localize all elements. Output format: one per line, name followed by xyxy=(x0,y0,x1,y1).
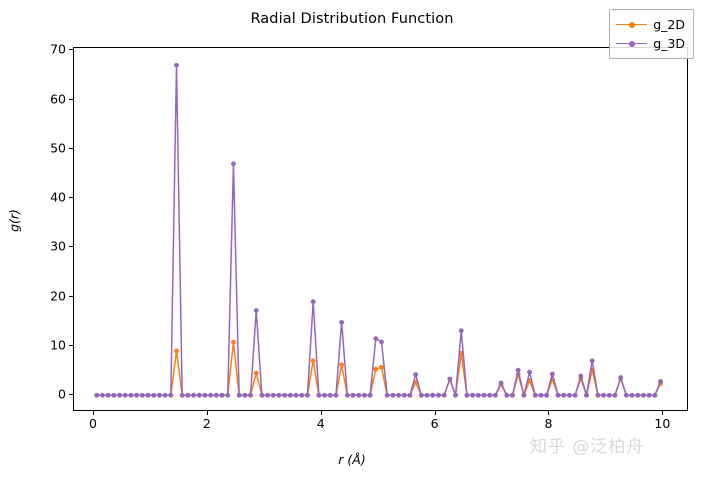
x-tick-mark xyxy=(321,411,322,415)
legend-item-g2d[interactable]: g_2D xyxy=(616,15,685,34)
data-point xyxy=(447,377,452,382)
data-point xyxy=(180,393,185,398)
data-point xyxy=(487,393,492,398)
data-point xyxy=(214,393,219,398)
data-point xyxy=(316,393,321,398)
legend-item-g3d[interactable]: g_3D xyxy=(616,34,685,53)
data-point xyxy=(504,393,509,398)
y-axis-label: g(r) xyxy=(7,191,22,251)
data-point xyxy=(294,393,299,398)
data-point xyxy=(607,393,612,398)
data-point xyxy=(322,393,327,398)
data-point xyxy=(311,299,316,304)
data-point xyxy=(185,393,190,398)
data-point xyxy=(419,393,424,398)
x-tick-mark xyxy=(93,411,94,415)
data-point xyxy=(493,393,498,398)
data-point xyxy=(345,393,350,398)
data-point xyxy=(408,393,413,398)
series-line xyxy=(97,65,661,395)
y-tick-label: 70 xyxy=(6,42,66,57)
data-point xyxy=(379,365,384,370)
data-point xyxy=(521,393,526,398)
data-point xyxy=(203,393,208,398)
data-point xyxy=(476,393,481,398)
data-point xyxy=(106,393,111,398)
data-point xyxy=(561,393,566,398)
data-point xyxy=(635,393,640,398)
data-point xyxy=(248,393,253,398)
data-point xyxy=(168,393,173,398)
data-point xyxy=(117,393,122,398)
data-point xyxy=(254,308,259,313)
data-point xyxy=(271,393,276,398)
data-point xyxy=(453,393,458,398)
data-point xyxy=(231,161,236,166)
data-point xyxy=(123,393,128,398)
data-point xyxy=(567,393,572,398)
data-point xyxy=(465,393,470,398)
x-tick-label: 8 xyxy=(518,416,578,431)
watermark: 知乎 @泛柏舟 xyxy=(530,432,644,457)
data-point xyxy=(413,372,418,377)
data-point xyxy=(328,393,333,398)
data-point xyxy=(482,393,487,398)
x-tick-mark xyxy=(662,411,663,415)
data-point xyxy=(339,362,344,367)
data-point xyxy=(430,393,435,398)
data-point xyxy=(539,393,544,398)
x-tick-mark xyxy=(207,411,208,415)
data-point xyxy=(601,393,606,398)
data-point xyxy=(658,379,663,384)
data-point xyxy=(254,371,259,376)
data-point xyxy=(100,393,105,398)
x-tick-label: 10 xyxy=(632,416,692,431)
data-point xyxy=(390,393,395,398)
x-tick-label: 2 xyxy=(177,416,237,431)
y-tick-label: 60 xyxy=(6,91,66,106)
legend-swatch-g3d xyxy=(616,38,647,50)
chart-legend: g_2D g_3D xyxy=(609,9,694,59)
x-tick-mark xyxy=(548,411,549,415)
data-point xyxy=(584,393,589,398)
data-point xyxy=(299,393,304,398)
data-point xyxy=(288,393,293,398)
y-tick-mark xyxy=(69,394,73,395)
x-tick-label: 0 xyxy=(63,416,123,431)
y-tick-mark xyxy=(69,197,73,198)
data-point xyxy=(647,393,652,398)
data-point xyxy=(260,393,265,398)
data-point xyxy=(146,393,151,398)
y-tick-mark xyxy=(69,246,73,247)
data-point xyxy=(470,393,475,398)
data-point xyxy=(379,340,384,345)
data-point xyxy=(533,393,538,398)
y-tick-mark xyxy=(69,345,73,346)
data-point xyxy=(231,340,236,345)
data-point xyxy=(334,393,339,398)
data-point xyxy=(595,393,600,398)
data-point xyxy=(351,393,356,398)
data-point xyxy=(624,393,629,398)
data-point xyxy=(550,372,555,377)
data-point xyxy=(436,393,441,398)
plot-area xyxy=(73,47,688,411)
legend-label-g2d: g_2D xyxy=(653,17,685,32)
data-point xyxy=(373,336,378,341)
data-point xyxy=(362,393,367,398)
data-point xyxy=(237,393,242,398)
data-point xyxy=(94,393,99,398)
data-point xyxy=(556,393,561,398)
y-tick-label: 20 xyxy=(6,288,66,303)
data-point xyxy=(129,393,134,398)
data-point xyxy=(208,393,213,398)
data-point xyxy=(618,375,623,380)
data-point xyxy=(613,393,618,398)
legend-marker-g2d xyxy=(629,22,635,28)
y-tick-mark xyxy=(69,99,73,100)
data-point xyxy=(368,393,373,398)
y-tick-label: 50 xyxy=(6,140,66,155)
data-point xyxy=(396,393,401,398)
data-point xyxy=(630,393,635,398)
data-point xyxy=(385,393,390,398)
y-tick-label: 10 xyxy=(6,337,66,352)
data-point xyxy=(544,393,549,398)
data-point xyxy=(590,358,595,363)
data-point xyxy=(174,63,179,68)
data-point xyxy=(265,393,270,398)
data-point xyxy=(425,393,430,398)
data-point xyxy=(157,393,162,398)
data-point xyxy=(516,368,521,373)
data-point xyxy=(311,358,316,363)
data-point xyxy=(373,367,378,372)
y-tick-mark xyxy=(69,49,73,50)
data-point xyxy=(191,393,196,398)
data-point xyxy=(140,393,145,398)
x-tick-label: 4 xyxy=(291,416,351,431)
data-point xyxy=(527,370,532,375)
legend-swatch-g2d xyxy=(616,19,647,31)
data-point xyxy=(277,393,282,398)
data-point xyxy=(578,374,583,379)
data-point xyxy=(151,393,156,398)
data-point xyxy=(499,381,504,386)
data-point xyxy=(174,349,179,354)
y-tick-mark xyxy=(69,148,73,149)
data-point xyxy=(652,393,657,398)
data-point xyxy=(225,393,230,398)
data-point xyxy=(305,393,310,398)
data-point xyxy=(163,393,168,398)
data-point xyxy=(459,328,464,333)
data-point xyxy=(641,393,646,398)
data-point xyxy=(134,393,139,398)
y-tick-label: 0 xyxy=(6,387,66,402)
series-g-3d xyxy=(94,63,663,398)
data-point xyxy=(402,393,407,398)
x-tick-label: 6 xyxy=(405,416,465,431)
data-point xyxy=(111,393,116,398)
chart-figure: Radial Distribution Function 01020304050… xyxy=(0,0,704,480)
data-point xyxy=(510,393,515,398)
plot-series-svg xyxy=(74,48,689,412)
data-point xyxy=(282,393,287,398)
data-point xyxy=(339,320,344,325)
y-tick-mark xyxy=(69,296,73,297)
data-point xyxy=(197,393,202,398)
legend-label-g3d: g_3D xyxy=(653,36,685,51)
data-point xyxy=(356,393,361,398)
legend-marker-g3d xyxy=(629,41,635,47)
data-point xyxy=(573,393,578,398)
data-point xyxy=(220,393,225,398)
data-point xyxy=(442,393,447,398)
data-point xyxy=(242,393,247,398)
chart-title: Radial Distribution Function xyxy=(0,11,704,27)
x-tick-mark xyxy=(435,411,436,415)
